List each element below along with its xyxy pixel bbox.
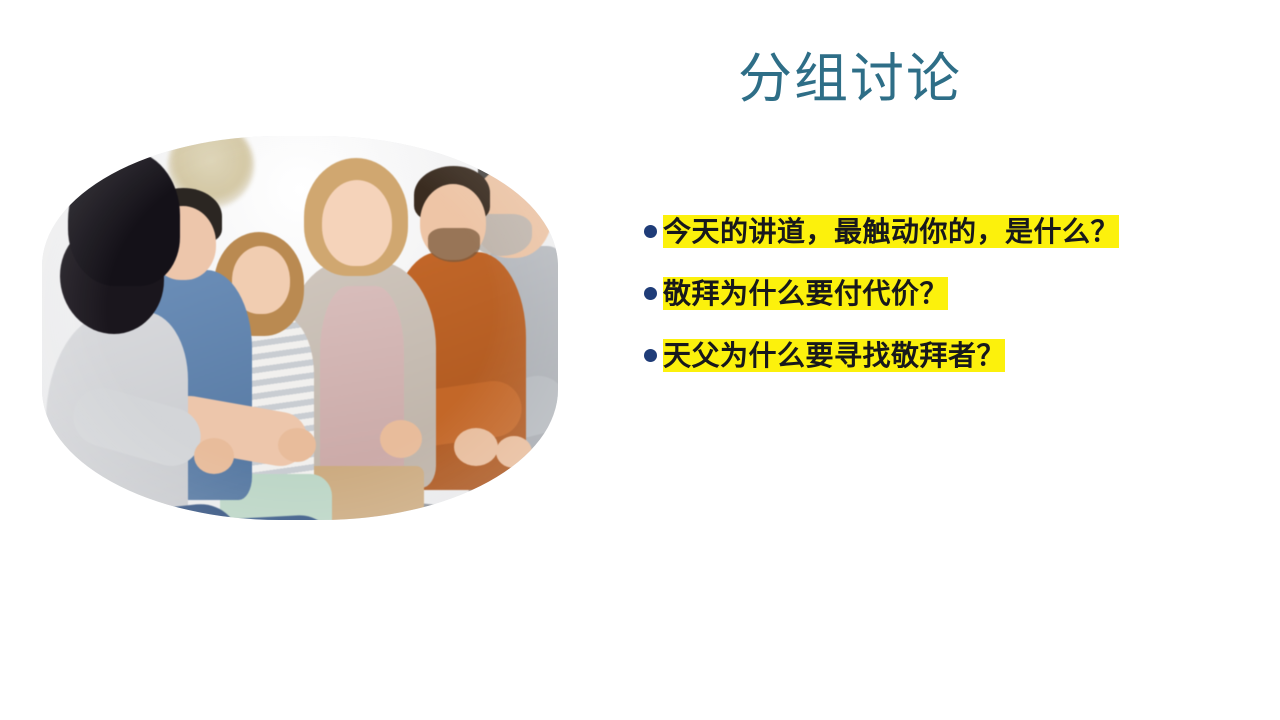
- person-blonde-woman-head: [322, 180, 392, 266]
- clasped-hands-4: [454, 428, 498, 466]
- clasped-hands-2: [278, 428, 316, 462]
- clasped-hands-3: [380, 420, 422, 458]
- question-text-3: 天父为什么要寻找敬拜者？: [663, 336, 1005, 376]
- list-item: 今天的讲道，最触动你的，是什么？: [644, 212, 1204, 252]
- photo-subjects: [42, 136, 558, 520]
- bullet-dot-icon: [644, 225, 657, 238]
- clasped-hands-5: [496, 436, 532, 468]
- question-text-2: 敬拜为什么要付代价？: [663, 274, 948, 314]
- photo-background: [42, 136, 558, 520]
- bullet-dot-icon: [644, 287, 657, 300]
- presentation-slide: 分组讨论: [0, 0, 1280, 720]
- list-item: 敬拜为什么要付代价？: [644, 274, 1204, 314]
- person-dark-hair-woman-hair: [68, 150, 180, 286]
- list-item: 天父为什么要寻找敬拜者？: [644, 336, 1204, 376]
- person-rust-sweater-beard: [428, 228, 480, 262]
- bullet-dot-icon: [644, 349, 657, 362]
- clasped-hands-1: [194, 438, 234, 474]
- page-title: 分组讨论: [600, 50, 1100, 109]
- group-discussion-photo: [42, 136, 558, 520]
- discussion-questions-list: 今天的讲道，最触动你的，是什么？ 敬拜为什么要付代价？ 天父为什么要寻找敬拜者？: [644, 212, 1204, 397]
- question-text-1: 今天的讲道，最触动你的，是什么？: [663, 212, 1119, 252]
